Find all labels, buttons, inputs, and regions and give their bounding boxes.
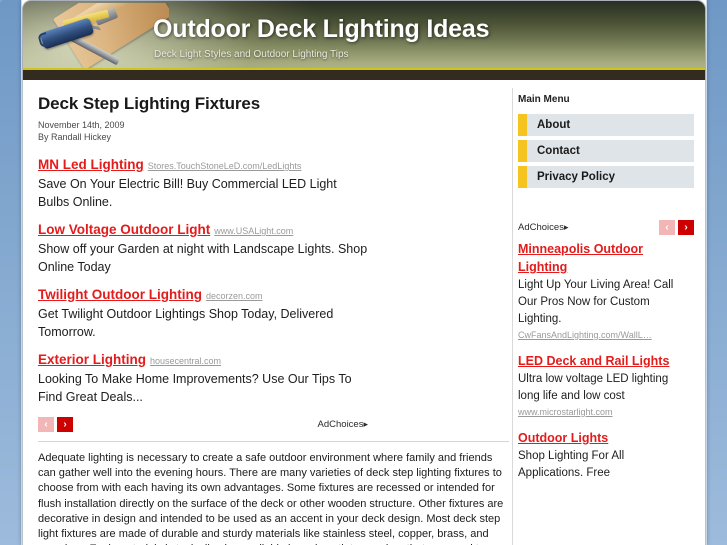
ad-description: Looking To Make Home Improvements? Use O… (38, 370, 368, 406)
ad-title-row: Twilight Outdoor Lightingdecorzen.com (38, 287, 368, 304)
sidebar: Main Menu About Contact Privacy Policy A… (518, 94, 694, 494)
sidebar-ad-header: AdChoices▸ ‹ › (518, 220, 694, 235)
sidebar-ad-unit: Minneapolis Outdoor Lighting Light Up Yo… (518, 240, 678, 340)
menu-accent-bar (518, 140, 527, 162)
adchoices-label: AdChoices (518, 222, 564, 233)
site-tagline: Deck Light Styles and Outdoor Lighting T… (154, 49, 349, 60)
ad-description: Get Twilight Outdoor Lightings Shop Toda… (38, 305, 368, 341)
sidebar-ad-description: Light Up Your Living Area! Call Our Pros… (518, 277, 678, 328)
ad-title-row: Low Voltage Outdoor Lightwww.USALight.co… (38, 222, 368, 239)
sidebar-item-privacy-policy[interactable]: Privacy Policy (518, 166, 694, 188)
post-byline: By Randall Hickey (38, 131, 509, 143)
ad-block-divider (38, 441, 509, 442)
site-title: Outdoor Deck Lighting Ideas (153, 15, 489, 44)
sidebar-item-label: Privacy Policy (527, 171, 615, 183)
sidebar-ad-nav-controls: ‹ › (659, 220, 694, 235)
page-title: Deck Step Lighting Fixtures (38, 94, 509, 114)
main-ad-footer: ‹ › AdChoices▸ (38, 417, 368, 432)
article-body-text: Adequate lighting is necessary to create… (38, 451, 509, 545)
sidebar-ad-description: Shop Lighting For All Applications. Free (518, 448, 678, 482)
sidebar-ad-unit: Outdoor Lights Shop Lighting For All App… (518, 429, 678, 482)
main-column: Deck Step Lighting Fixtures November 14t… (38, 94, 509, 545)
sidebar-item-about[interactable]: About (518, 114, 694, 136)
sidebar-ad-prev-arrow-icon[interactable]: ‹ (659, 220, 675, 235)
ad-domain-link[interactable]: www.USALight.com (214, 226, 293, 236)
content-area: Deck Step Lighting Fixtures November 14t… (22, 80, 706, 545)
adchoices-triangle-icon: ▸ (363, 419, 368, 429)
adchoices-link[interactable]: AdChoices▸ (318, 419, 368, 430)
menu-accent-bar (518, 114, 527, 136)
sidebar-ad-next-arrow-icon[interactable]: › (678, 220, 694, 235)
ad-unit: Exterior Lightinghousecentral.com Lookin… (38, 352, 368, 406)
sidebar-ad-description: Ultra low voltage LED lighting long life… (518, 371, 678, 405)
sidebar-heading: Main Menu (518, 94, 694, 105)
post-date: November 14th, 2009 (38, 119, 509, 131)
page-shell: Outdoor Deck Lighting Ideas Deck Light S… (21, 0, 707, 545)
sidebar-ad-domain-link[interactable]: www.microstarlight.com (518, 407, 678, 417)
ad-title-row: MN Led LightingStores.TouchStoneLeD.com/… (38, 157, 368, 174)
sidebar-ad-domain-link[interactable]: CwFansAndLighting.com/WallL… (518, 330, 678, 340)
sidebar-adchoices-link[interactable]: AdChoices▸ (518, 222, 568, 233)
header-dark-bar (23, 70, 705, 80)
sidebar-item-label: Contact (527, 145, 580, 157)
ad-domain-link[interactable]: Stores.TouchStoneLeD.com/LedLights (148, 161, 302, 171)
ad-unit: Low Voltage Outdoor Lightwww.USALight.co… (38, 222, 368, 276)
sidebar-ad-title-link[interactable]: LED Deck and Rail Lights (518, 354, 669, 368)
ad-title-link[interactable]: Low Voltage Outdoor Light (38, 222, 210, 237)
main-ad-block: MN Led LightingStores.TouchStoneLeD.com/… (38, 157, 368, 432)
ad-description: Save On Your Electric Bill! Buy Commerci… (38, 175, 368, 211)
ad-domain-link[interactable]: housecentral.com (150, 356, 221, 366)
ad-title-link[interactable]: Twilight Outdoor Lighting (38, 287, 202, 302)
tools-illustration-image (37, 3, 169, 71)
ad-next-arrow-icon[interactable]: › (57, 417, 73, 432)
menu-accent-bar (518, 166, 527, 188)
sidebar-item-contact[interactable]: Contact (518, 140, 694, 162)
ad-nav-controls: ‹ › (38, 417, 73, 432)
sidebar-ad-title-link[interactable]: Outdoor Lights (518, 431, 608, 445)
sidebar-ad-unit: LED Deck and Rail Lights Ultra low volta… (518, 352, 678, 417)
adchoices-triangle-icon: ▸ (564, 222, 569, 232)
ad-title-link[interactable]: MN Led Lighting (38, 157, 144, 172)
column-divider (512, 88, 513, 545)
ad-domain-link[interactable]: decorzen.com (206, 291, 263, 301)
sidebar-ad-title-link[interactable]: Minneapolis Outdoor Lighting (518, 242, 643, 274)
adchoices-label: AdChoices (318, 419, 364, 430)
ad-title-link[interactable]: Exterior Lighting (38, 352, 146, 367)
sidebar-item-label: About (527, 119, 570, 131)
ad-unit: Twilight Outdoor Lightingdecorzen.com Ge… (38, 287, 368, 341)
ad-description: Show off your Garden at night with Lands… (38, 240, 368, 276)
ad-prev-arrow-icon[interactable]: ‹ (38, 417, 54, 432)
ad-title-row: Exterior Lightinghousecentral.com (38, 352, 368, 369)
site-header: Outdoor Deck Lighting Ideas Deck Light S… (22, 0, 706, 80)
ad-unit: MN Led LightingStores.TouchStoneLeD.com/… (38, 157, 368, 211)
